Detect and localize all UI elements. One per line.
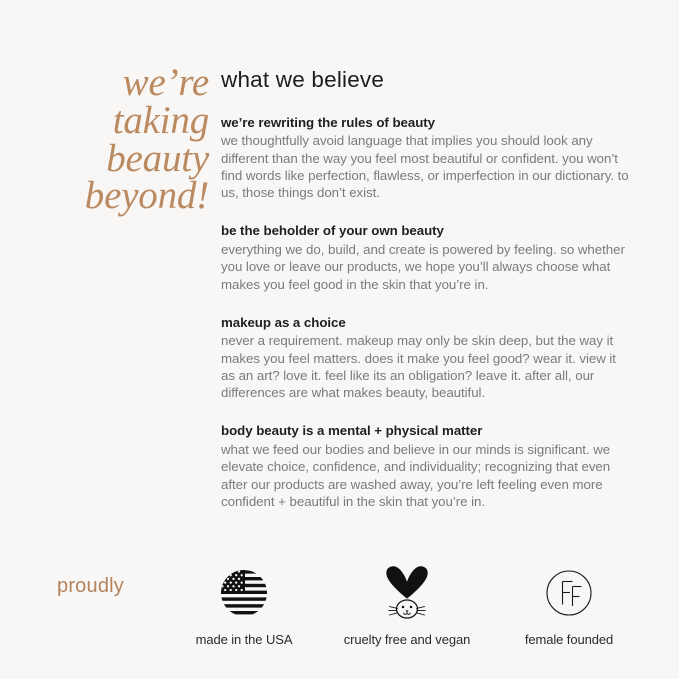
section-body: what we feed our bodies and believe in o…: [221, 441, 633, 510]
badge-caption: made in the USA: [159, 632, 329, 648]
badge-caption: cruelty free and vegan: [322, 632, 492, 648]
section-title: be the beholder of your own beauty: [221, 222, 633, 240]
cruelty-free-bunny-icon: [322, 562, 492, 624]
section-title: we’re rewriting the rules of beauty: [221, 114, 633, 132]
female-founded-monogram-icon: [484, 562, 654, 624]
belief-section-item: be the beholder of your own beauty every…: [221, 222, 633, 292]
belief-section-item: makeup as a choice never a requirement. …: [221, 314, 633, 402]
belief-section: we’re taking beauty beyond! what we beli…: [0, 0, 679, 552]
section-body: everything we do, build, and create is p…: [221, 241, 633, 293]
brand-headline: we’re taking beauty beyond!: [52, 64, 209, 215]
belief-section-item: we’re rewriting the rules of beauty we t…: [221, 114, 633, 202]
badge-cruelty-free: cruelty free and vegan: [322, 562, 492, 648]
page-title: what we believe: [221, 68, 633, 93]
usa-flag-circle-icon: [159, 562, 329, 624]
proudly-label: proudly: [57, 575, 124, 598]
section-title: body beauty is a mental + physical matte…: [221, 422, 633, 440]
badge-caption: female founded: [484, 632, 654, 648]
section-title: makeup as a choice: [221, 314, 633, 332]
badge-female-founded: female founded: [484, 562, 654, 648]
belief-content: what we believe we’re rewriting the rule…: [221, 68, 633, 510]
section-body: we thoughtfully avoid language that impl…: [221, 132, 633, 201]
section-body: never a requirement. makeup may only be …: [221, 332, 633, 401]
page-root: we’re taking beauty beyond! what we beli…: [0, 0, 679, 679]
badge-row: proudly: [0, 552, 679, 679]
belief-section-item: body beauty is a mental + physical matte…: [221, 422, 633, 510]
badge-made-in-usa: made in the USA: [159, 562, 329, 648]
